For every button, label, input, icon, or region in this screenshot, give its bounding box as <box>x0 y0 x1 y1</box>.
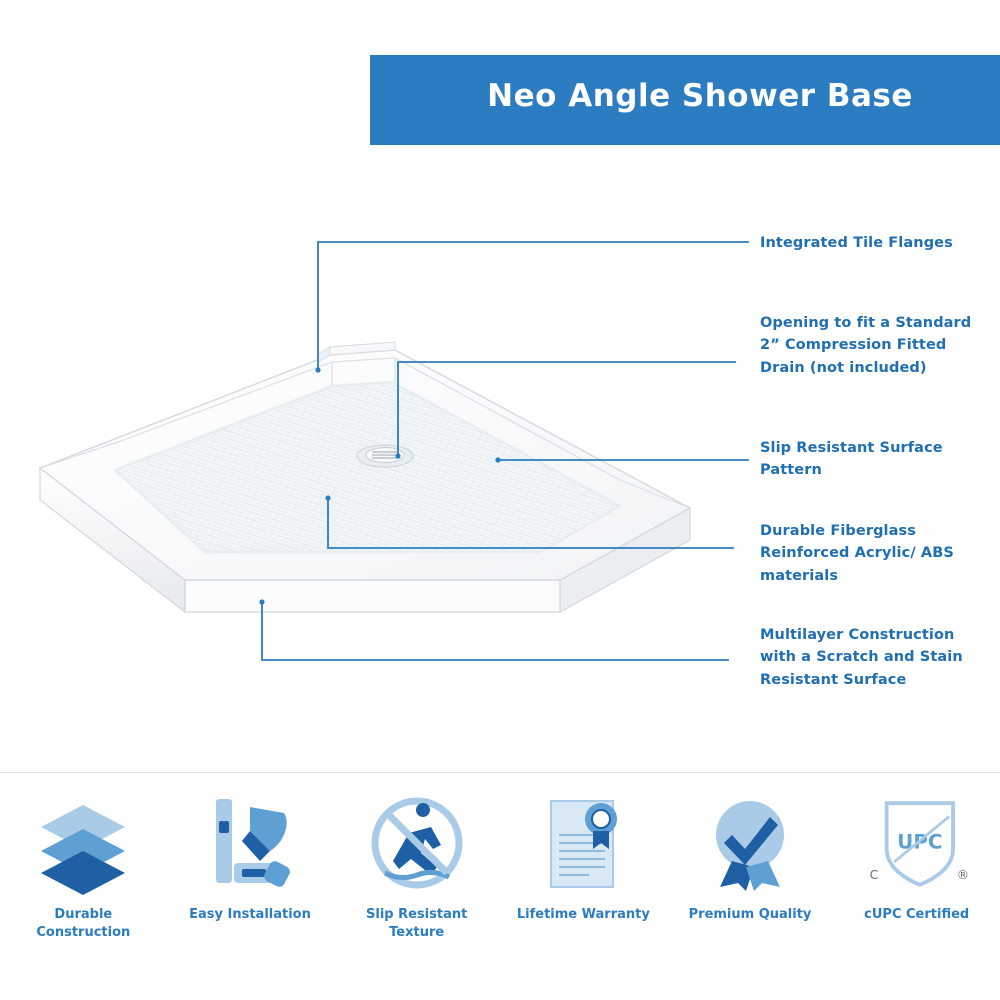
upc-c-mark: C <box>869 868 878 882</box>
feature-label: cUPC Certified <box>847 906 987 924</box>
callout-multilayer-construction: Multilayer Construction with a Scratch a… <box>760 624 995 691</box>
certificate-icon <box>528 785 638 900</box>
page-title: Neo Angle Shower Base <box>410 78 990 114</box>
checkmark-ribbon-icon <box>695 785 805 900</box>
tools-icon <box>195 785 305 900</box>
drain-opening <box>357 445 413 467</box>
leader-line-flanges <box>318 242 748 370</box>
upc-r-mark: ® <box>957 868 969 882</box>
section-divider <box>0 772 1000 773</box>
feature-lifetime-warranty: Lifetime Warranty <box>500 785 667 970</box>
slip-resistant-surface <box>115 382 620 552</box>
upc-shield-icon: UPC C ® <box>862 785 972 900</box>
feature-label: Easy Installation <box>180 906 320 924</box>
no-slip-icon <box>362 785 472 900</box>
callout-drain-opening: Opening to fit a Standard 2” Compression… <box>760 312 995 379</box>
callout-durable-materials: Durable Fiberglass Reinforced Acrylic/ A… <box>760 520 995 587</box>
product-diagram-page: Neo Angle Shower Base <box>0 0 1000 1000</box>
feature-label: Premium Quality <box>680 906 820 924</box>
leader-line-durable <box>328 498 733 548</box>
feature-label: Durable Construction <box>13 906 153 941</box>
feature-slip-resistant-texture: Slip Resistant Texture <box>333 785 500 970</box>
feature-premium-quality: Premium Quality <box>667 785 834 970</box>
base-top-rim <box>40 342 690 580</box>
callout-slip-resistant-surface: Slip Resistant Surface Pattern <box>760 437 985 482</box>
feature-durable-construction: Durable Construction <box>0 785 167 970</box>
leader-line-drain <box>398 362 735 456</box>
feature-cupc-certified: UPC C ® cUPC Certified <box>833 785 1000 970</box>
feature-label: Lifetime Warranty <box>513 906 653 924</box>
feature-strip: Durable Construction Easy Installation <box>0 785 1000 970</box>
base-side-faces <box>40 468 690 612</box>
feature-label: Slip Resistant Texture <box>347 906 487 941</box>
callout-integrated-tile-flanges: Integrated Tile Flanges <box>760 232 990 254</box>
leader-dots <box>259 367 500 604</box>
integrated-tile-flange-edges <box>40 358 690 508</box>
leader-line-multilayer <box>262 602 728 660</box>
feature-easy-installation: Easy Installation <box>167 785 334 970</box>
layers-icon <box>28 785 138 900</box>
